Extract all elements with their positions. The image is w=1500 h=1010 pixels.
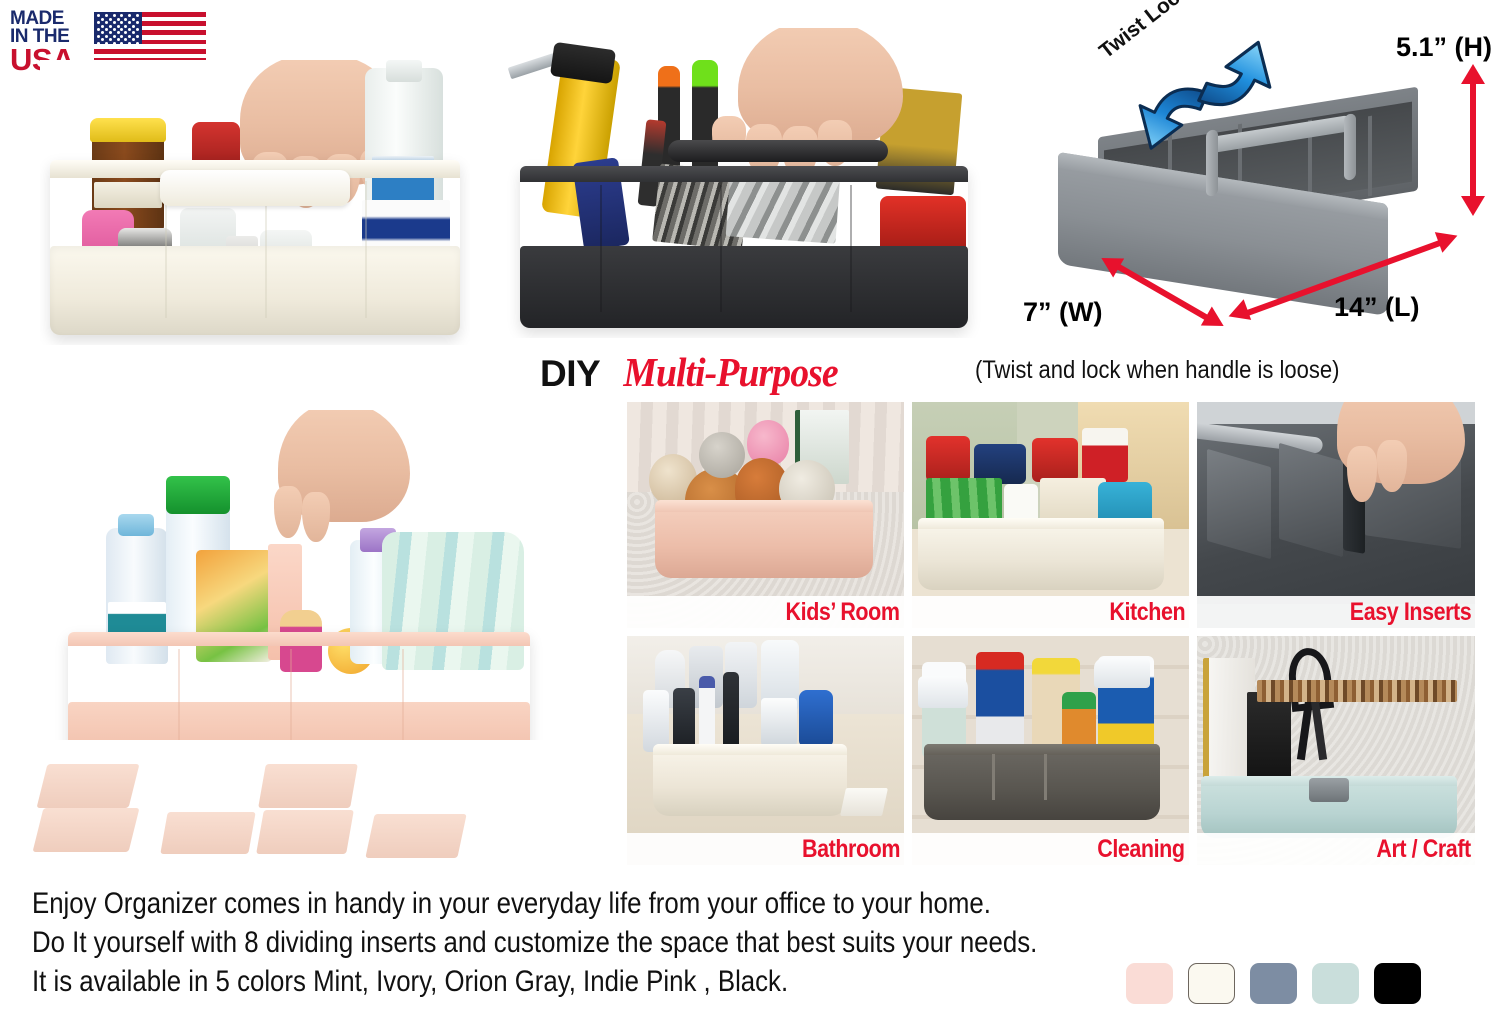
height-arrow-head-up — [1461, 64, 1485, 84]
caddy-handle — [160, 170, 350, 206]
handle-post-right — [1344, 113, 1356, 181]
divider — [1207, 449, 1271, 559]
plush-toy — [699, 432, 745, 478]
caddy-handle — [668, 140, 888, 162]
bottle-cap — [90, 118, 166, 142]
usage-cell-cleaning[interactable]: Cleaning — [912, 636, 1189, 865]
cleaning-photo — [912, 636, 1189, 865]
multi-purpose-word: Multi-Purpose — [624, 348, 838, 396]
loose-divider-inserts — [30, 762, 520, 857]
divider-insert — [258, 764, 358, 808]
finger — [302, 492, 330, 542]
spray-bottle — [643, 690, 669, 752]
tool-caddy-photo — [500, 28, 990, 338]
divider — [1279, 443, 1343, 557]
easy-inserts-photo — [1197, 402, 1475, 628]
diy-word: DIY — [540, 353, 600, 395]
spray-trigger — [1094, 658, 1150, 688]
description-block: Enjoy Organizer comes in handy in your e… — [32, 884, 1122, 1001]
usage-grid: Kids’ Room Kitchen — [627, 402, 1475, 865]
swatch-orion-gray[interactable] — [1250, 963, 1297, 1004]
caddy-black — [520, 166, 968, 328]
width-dimension-label: 7” (W) — [1023, 297, 1102, 328]
divider-insert — [37, 764, 140, 808]
cream-jar — [761, 698, 797, 746]
description-line-1: Enjoy Organizer comes in handy in your e… — [32, 884, 969, 923]
usage-label-easy-inserts: Easy Inserts — [1349, 598, 1471, 627]
swatch-ivory[interactable] — [1188, 963, 1235, 1004]
caddy-rim — [924, 744, 1160, 755]
usage-label-kids-room: Kids’ Room — [786, 598, 900, 627]
infographic-canvas: MADE IN THE USA — [0, 0, 1500, 1010]
caddy-rim — [655, 500, 873, 512]
spray-trigger — [918, 676, 968, 708]
green-cap — [166, 476, 230, 514]
usage-cell-art-craft[interactable]: Art / Craft — [1197, 636, 1475, 865]
divider — [1044, 754, 1047, 800]
divider-insert — [840, 788, 888, 816]
description-line-2: Do It yourself with 8 dividing inserts a… — [32, 923, 969, 962]
usage-label-kitchen: Kitchen — [1109, 598, 1185, 627]
alcohol-bottle-cap — [386, 60, 422, 82]
divider-insert — [365, 814, 466, 858]
jar-red — [1032, 438, 1078, 482]
usage-cell-easy-inserts[interactable]: Easy Inserts — [1197, 402, 1475, 628]
diy-heading: DIY Multi-Purpose — [540, 348, 847, 392]
length-arrow-head-left — [1225, 299, 1251, 327]
kitchen-photo — [912, 402, 1189, 628]
soap-dispenser — [799, 690, 833, 746]
caddy-rim — [653, 744, 847, 755]
usage-label-cleaning: Cleaning — [1098, 835, 1185, 864]
finger — [274, 486, 302, 538]
width-arrow-head-right — [1201, 306, 1229, 335]
description-line-3: It is available in 5 colors Mint, Ivory,… — [32, 962, 969, 1001]
divider — [1368, 116, 1372, 197]
jar-red — [926, 436, 970, 482]
usage-cell-kitchen[interactable]: Kitchen — [912, 402, 1189, 628]
height-arrow-shaft — [1470, 80, 1476, 200]
usage-cell-kids-room[interactable]: Kids’ Room — [627, 402, 904, 628]
swatch-black[interactable] — [1374, 963, 1421, 1004]
handle-base — [1309, 778, 1349, 802]
divider-insert — [33, 808, 140, 852]
usage-cell-bathroom[interactable]: Bathroom — [627, 636, 904, 865]
jar-white-red — [1082, 428, 1128, 482]
baby-caddy-photo — [30, 410, 610, 740]
medicine-caddy-photo — [40, 60, 470, 345]
swatch-mint[interactable] — [1312, 963, 1359, 1004]
divider-insert — [160, 812, 255, 854]
caddy-rim — [918, 518, 1164, 529]
length-dimension-label: 14” (L) — [1334, 292, 1420, 323]
usage-label-bathroom: Bathroom — [802, 835, 900, 864]
divider — [992, 754, 995, 800]
clorox-bottle — [976, 652, 1024, 756]
usage-label-art-craft: Art / Craft — [1377, 835, 1471, 864]
twist-arrow-right-icon — [1188, 28, 1293, 133]
colored-pencils — [1257, 680, 1457, 702]
height-arrow-head-down — [1461, 196, 1485, 216]
caddy-pink — [68, 632, 530, 740]
caddy-gray — [924, 744, 1160, 820]
swatch-indie-pink[interactable] — [1126, 963, 1173, 1004]
bathroom-photo — [627, 636, 904, 865]
divider-insert — [256, 810, 354, 854]
length-arrow-head-right — [1435, 225, 1461, 253]
blue-cap — [118, 514, 154, 536]
color-swatches — [1126, 963, 1421, 1004]
markers-and-pens — [1257, 688, 1457, 788]
twist-lock-note: (Twist and lock when handle is loose) — [975, 356, 1339, 385]
height-dimension-label: 5.1” (H) — [1396, 32, 1492, 63]
kids-room-photo — [627, 402, 904, 628]
art-craft-photo — [1197, 636, 1475, 865]
